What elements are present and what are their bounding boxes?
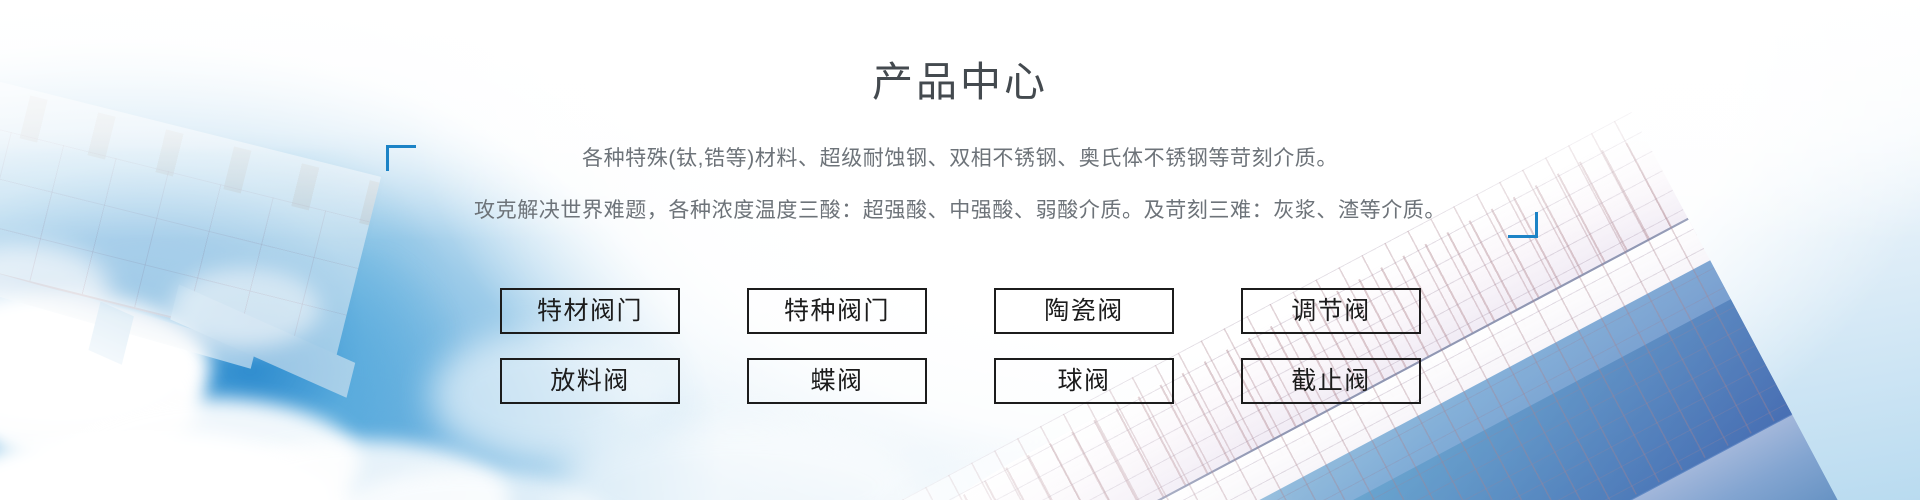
category-button-qiu-fa[interactable]: 球阀 (994, 358, 1174, 404)
product-category-grid: 特材阀门 特种阀门 陶瓷阀 调节阀 放料阀 蝶阀 球阀 截止阀 (500, 288, 1420, 404)
description-line-1: 各种特殊(钛,锆等)材料、超级耐蚀钢、双相不锈钢、奥氏体不锈钢等苛刻介质。 (0, 144, 1920, 174)
category-button-fang-liao-fa[interactable]: 放料阀 (500, 358, 680, 404)
banner-content: 产品中心 各种特殊(钛,锆等)材料、超级耐蚀钢、双相不锈钢、奥氏体不锈钢等苛刻介… (0, 0, 1920, 500)
category-button-jie-zhi-fa[interactable]: 截止阀 (1241, 358, 1421, 404)
description-block: 各种特殊(钛,锆等)材料、超级耐蚀钢、双相不锈钢、奥氏体不锈钢等苛刻介质。 攻克… (0, 144, 1920, 226)
page-title: 产品中心 (0, 58, 1920, 106)
product-center-banner: 产品中心 各种特殊(钛,锆等)材料、超级耐蚀钢、双相不锈钢、奥氏体不锈钢等苛刻介… (0, 0, 1920, 500)
category-button-die-fa[interactable]: 蝶阀 (747, 358, 927, 404)
category-button-tiao-jie-fa[interactable]: 调节阀 (1241, 288, 1421, 334)
category-button-tao-ci-fa[interactable]: 陶瓷阀 (994, 288, 1174, 334)
category-button-te-cai-fa-men[interactable]: 特材阀门 (500, 288, 680, 334)
description-line-2: 攻克解决世界难题，各种浓度温度三酸：超强酸、中强酸、弱酸介质。及苛刻三难：灰浆、… (0, 196, 1920, 226)
category-button-te-zhong-fa-men[interactable]: 特种阀门 (747, 288, 927, 334)
